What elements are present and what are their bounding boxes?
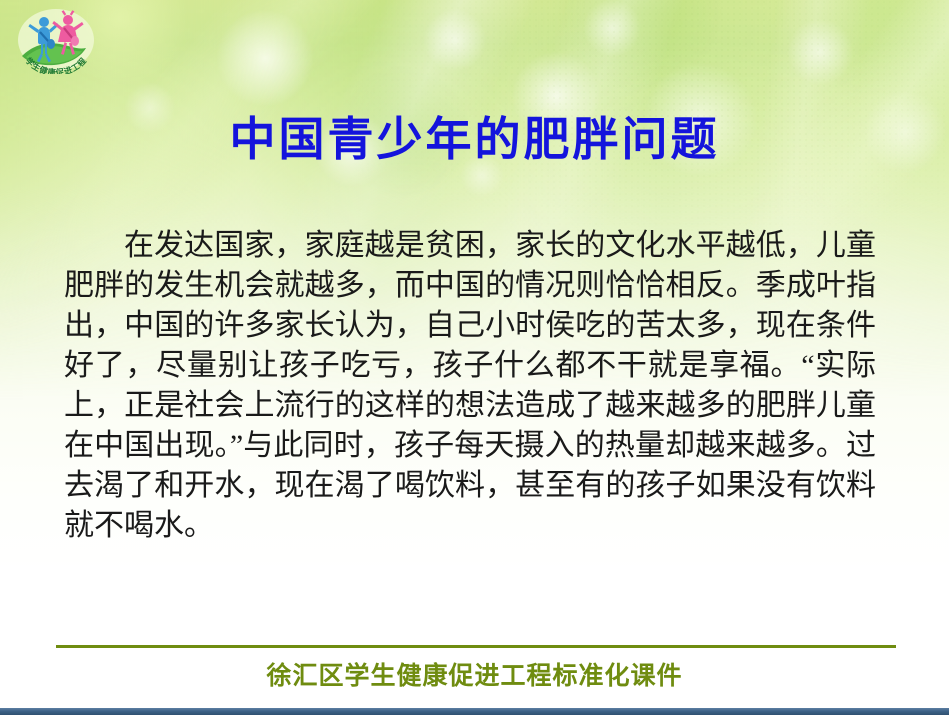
presentation-slide: 学生健康促进工程 中国青少年的肥胖问题 在发达国家，家庭越是贫困，家长的文化水平… [0, 0, 949, 715]
slide-title: 中国青少年的肥胖问题 [0, 111, 949, 167]
slide-body-text: 在发达国家，家庭越是贫困，家长的文化水平越低，儿童肥胖的发生机会就越多，而中国的… [64, 226, 876, 546]
footer-divider [56, 645, 896, 648]
footer-text: 徐汇区学生健康促进工程标准化课件 [0, 659, 949, 695]
slide-bottom-border [0, 708, 949, 715]
student-health-promotion-logo: 学生健康促进工程 [16, 8, 96, 74]
